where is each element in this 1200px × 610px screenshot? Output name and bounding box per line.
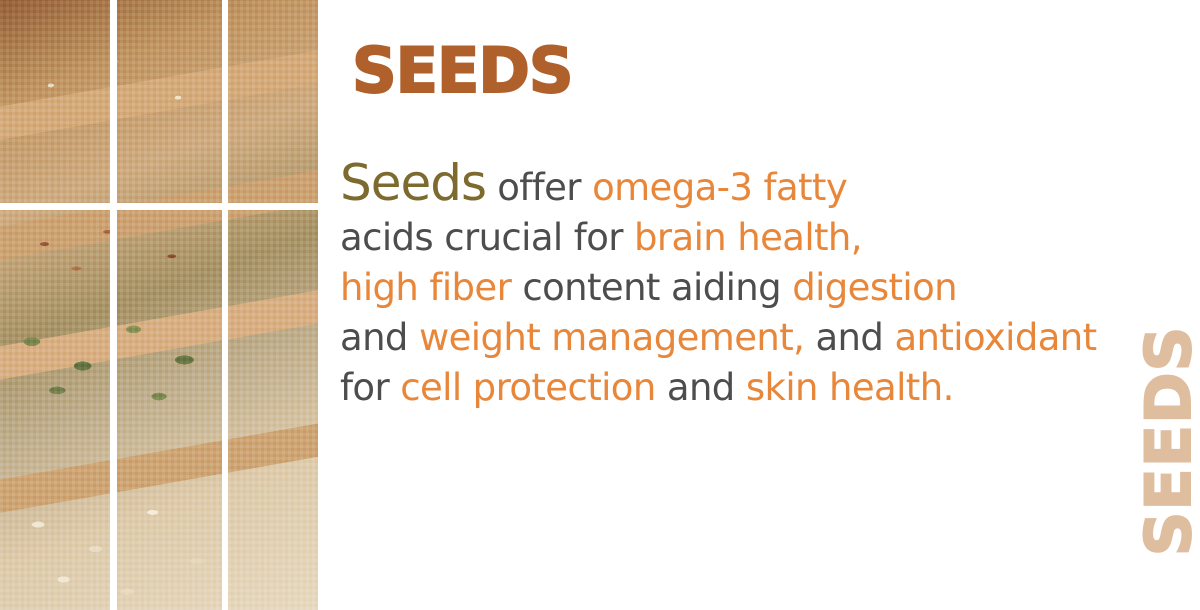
body-segment-plain: and (804, 316, 894, 359)
collage-tile-r2c2 (117, 210, 222, 610)
body-segment-highlight: cell protection (400, 366, 655, 409)
body-line: for cell protection and skin health. (340, 363, 1100, 413)
collage-tile-r2c1 (0, 210, 110, 610)
body-segment-plain: and (340, 316, 419, 359)
collage-photo-fragment (0, 0, 110, 203)
collage-photo-fragment (117, 0, 222, 203)
body-line: acids crucial for brain health, (340, 213, 1100, 263)
body-line: Seeds offer omega-3 fatty (340, 158, 1100, 213)
body-line: and weight management, and antioxidant (340, 313, 1100, 363)
body-segment-plain: offer (486, 166, 592, 209)
seed-photo-collage (0, 0, 318, 610)
body-line: high fiber content aiding digestion (340, 263, 1100, 313)
body-segment-highlight: antioxidant (894, 316, 1096, 359)
body-segment-highlight: omega-3 fatty (592, 166, 847, 209)
collage-photo-fragment (0, 210, 110, 610)
body-paragraph: Seeds offer omega-3 fattyacids crucial f… (340, 158, 1100, 413)
collage-tile-r1c3 (228, 0, 318, 203)
body-segment-highlight: digestion (792, 266, 957, 309)
body-segment-plain: acids crucial for (340, 216, 634, 259)
body-segment-lead: Seeds (340, 154, 486, 212)
body-segment-highlight: high fiber (340, 266, 511, 309)
collage-tile-r1c2 (117, 0, 222, 203)
page-title: SEEDS (352, 40, 572, 102)
collage-tile-r2c3 (228, 210, 318, 610)
collage-photo-fragment (117, 210, 222, 610)
body-segment-highlight: brain health, (634, 216, 862, 259)
body-segment-highlight: skin health. (746, 366, 954, 409)
body-segment-plain: for (340, 366, 400, 409)
collage-photo-fragment (228, 0, 318, 203)
collage-tile-r1c1 (0, 0, 110, 203)
body-segment-plain: content aiding (511, 266, 792, 309)
body-segment-highlight: weight management, (419, 316, 804, 359)
vertical-side-word: SEEDS (1134, 321, 1200, 561)
infographic-page: SEEDS Seeds offer omega-3 fattyacids cru… (0, 0, 1200, 610)
body-segment-plain: and (656, 366, 746, 409)
collage-photo-fragment (228, 210, 318, 610)
